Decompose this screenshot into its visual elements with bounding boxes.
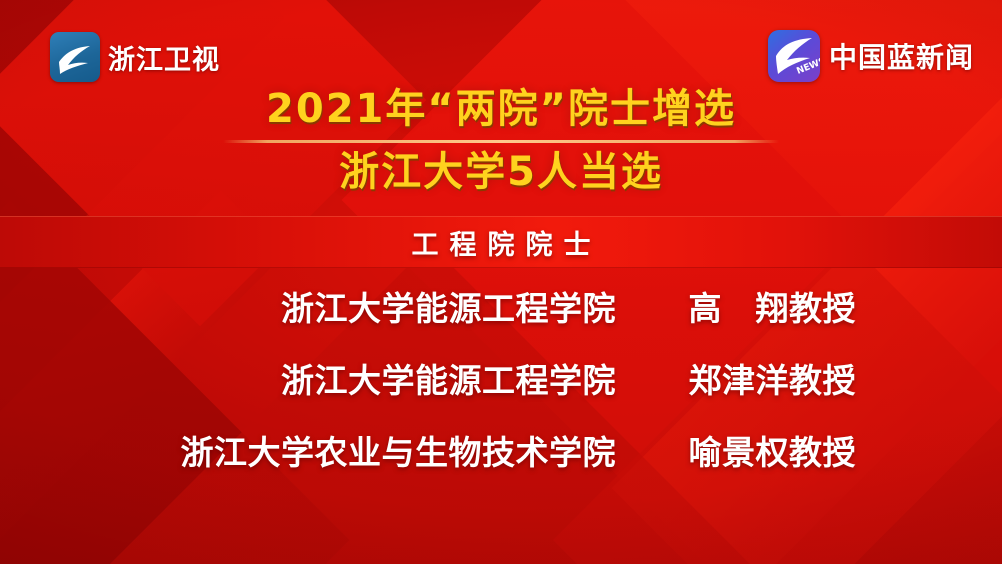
headline-line-1: 2021年“两院”院士增选: [0, 86, 1002, 133]
laureate-organization: 浙江大学能源工程学院: [146, 282, 616, 330]
laureate-organization: 浙江大学农业与生物技术学院: [146, 426, 616, 474]
channel-logo-right: NEWS 中国蓝新闻: [768, 30, 974, 82]
laureate-organization: 浙江大学能源工程学院: [146, 354, 616, 402]
laureate-name: 高 翔教授: [616, 282, 856, 330]
headline-line-2: 浙江大学5人当选: [0, 149, 1002, 196]
list-item: 浙江大学能源工程学院 郑津洋教授: [0, 354, 1002, 402]
wordmark-primary: 中国蓝: [829, 41, 916, 74]
laureate-name: 郑津洋教授: [616, 354, 856, 402]
znews-z-swoosh-icon: NEWS: [768, 30, 820, 82]
channel-logo-left: 浙江卫视: [50, 32, 220, 82]
china-blue-news-wordmark: 中国蓝新闻: [829, 36, 974, 76]
section-band: 工程院院士: [0, 216, 1002, 268]
section-label: 工程院院士: [401, 223, 602, 262]
list-item: 浙江大学农业与生物技术学院 喻景权教授: [0, 426, 1002, 474]
laureate-list: 浙江大学能源工程学院 高 翔教授 浙江大学能源工程学院 郑津洋教授 浙江大学农业…: [0, 282, 1002, 474]
broadcast-graphic: 浙江卫视 NEWS 中国蓝新闻 2021年“两院”院士增选 浙江大学5人当选 工…: [0, 0, 1002, 564]
headline-divider: [223, 140, 779, 143]
zjtv-z-swoosh-icon: [50, 32, 100, 82]
laureate-name: 喻景权教授: [616, 426, 856, 474]
zjtv-wordmark: 浙江卫视: [108, 38, 220, 77]
wordmark-secondary: 新闻: [916, 41, 974, 74]
headline-block: 2021年“两院”院士增选 浙江大学5人当选: [0, 86, 1002, 196]
list-item: 浙江大学能源工程学院 高 翔教授: [0, 282, 1002, 330]
